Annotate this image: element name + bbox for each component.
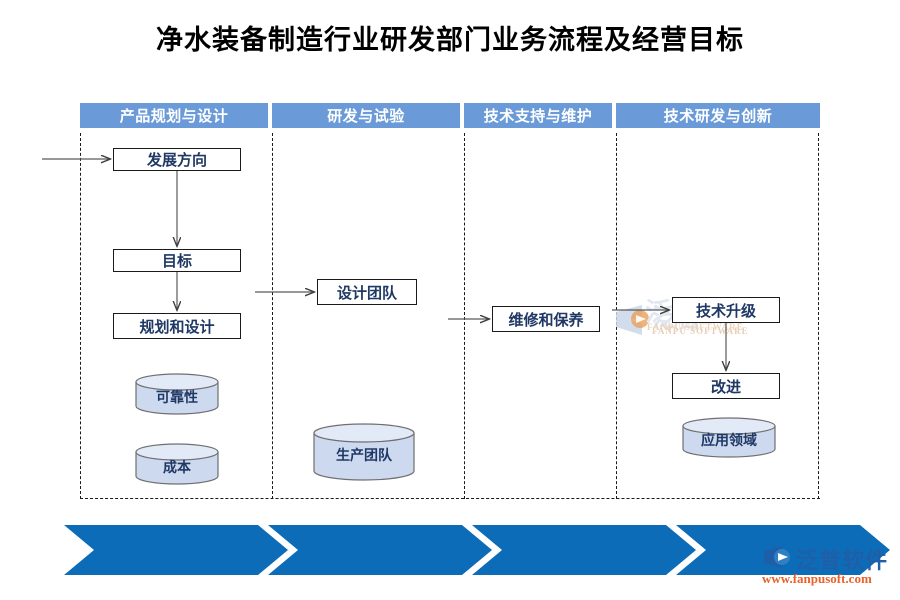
node-improvement[interactable]: 改进 xyxy=(672,373,780,399)
brand-logo[interactable]: 泛普软件 www.fanpusoft.com xyxy=(760,543,892,593)
lane-header-label: 产品规划与设计 xyxy=(120,105,229,126)
logo-url: www.fanpusoft.com xyxy=(762,571,872,587)
node-label: 规划和设计 xyxy=(139,316,214,337)
page-title: 净水装备制造行业研发部门业务流程及经营目标 xyxy=(0,18,900,57)
chevron-step-3[interactable] xyxy=(472,525,696,575)
chevron-step-2[interactable] xyxy=(268,525,492,575)
lane-divider-2-3 xyxy=(464,133,465,499)
cylinder-cost[interactable]: 成本 xyxy=(135,443,219,485)
node-development-direction[interactable]: 发展方向 xyxy=(113,148,241,171)
lane-header-tech-support[interactable]: 技术支持与维护 xyxy=(464,103,612,128)
lane-header-label: 技术支持与维护 xyxy=(484,105,593,126)
lane-divider-3-4 xyxy=(616,133,617,499)
node-label: 维修和保养 xyxy=(508,309,583,330)
lane-header-product-planning[interactable]: 产品规划与设计 xyxy=(80,103,268,128)
node-label: 改进 xyxy=(711,376,741,397)
node-planning-design[interactable]: 规划和设计 xyxy=(113,313,241,339)
cylinder-reliability[interactable]: 可靠性 xyxy=(135,373,219,415)
node-tech-upgrade[interactable]: 技术升级 xyxy=(672,297,780,323)
lane-bottom-border xyxy=(80,498,820,499)
lane-header-rnd-testing[interactable]: 研发与试验 xyxy=(272,103,460,128)
node-design-team[interactable]: 设计团队 xyxy=(317,279,417,305)
node-objective[interactable]: 目标 xyxy=(113,249,241,272)
node-label: 发展方向 xyxy=(147,149,207,170)
lane-divider-right-edge xyxy=(818,133,819,499)
logo-mark-icon xyxy=(762,543,796,571)
lane-header-tech-innovation[interactable]: 技术研发与创新 xyxy=(616,103,820,128)
lane-divider-1-2 xyxy=(272,133,273,499)
cylinder-production-team[interactable]: 生产团队 xyxy=(313,423,415,481)
watermark-right-brand-en: FANPU SOFTWARE xyxy=(647,322,744,332)
node-maintenance-repair[interactable]: 维修和保养 xyxy=(492,306,600,332)
watermark-center-brand-en: FANPU SOFTWARE xyxy=(652,326,749,336)
node-label: 目标 xyxy=(162,250,192,271)
lane-divider-left-edge xyxy=(80,133,81,499)
lane-header-label: 研发与试验 xyxy=(327,105,405,126)
chevron-step-1[interactable] xyxy=(64,525,288,575)
cylinder-application-domain[interactable]: 应用领域 xyxy=(682,418,776,458)
diagram-canvas: 净水装备制造行业研发部门业务流程及经营目标 泛普 FANPU SOFTWARE … xyxy=(0,0,900,600)
node-label: 设计团队 xyxy=(337,282,397,303)
lane-header-label: 技术研发与创新 xyxy=(664,105,773,126)
node-label: 技术升级 xyxy=(696,300,756,321)
